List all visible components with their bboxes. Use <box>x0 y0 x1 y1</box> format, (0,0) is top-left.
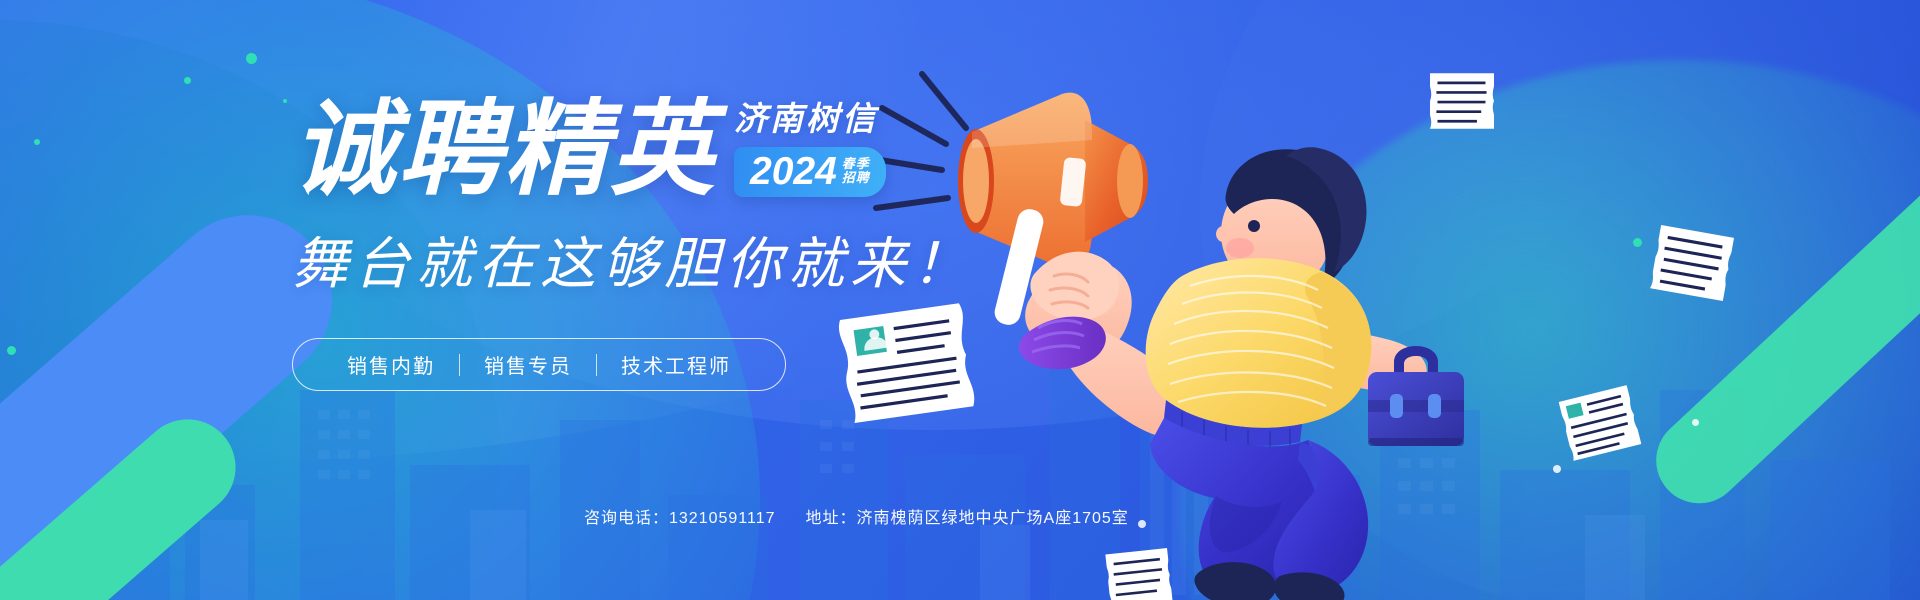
badge-subtext-line1: 春季 <box>842 157 870 171</box>
decorative-dot <box>246 53 257 64</box>
badge-year: 2024 <box>750 152 837 191</box>
banner-copy: 诚聘精英 济南树信 2024 春季 招聘 舞台就在这够胆你就来！ 销售内勤 销售… <box>292 92 1052 391</box>
subtitle: 舞台就在这够胆你就来！ <box>292 219 1052 300</box>
headline-row: 诚聘精英 济南树信 2024 春季 招聘 <box>292 92 1052 203</box>
recruitment-banner: 诚聘精英 济南树信 2024 春季 招聘 舞台就在这够胆你就来！ 销售内勤 销售… <box>0 0 1920 600</box>
decorative-dot <box>1633 238 1642 247</box>
year-badge: 2024 春季 招聘 <box>734 147 886 197</box>
eye <box>1248 220 1260 232</box>
decorative-dot-white <box>1692 419 1699 426</box>
decorative-dot <box>7 346 16 355</box>
badge-subtext: 春季 招聘 <box>842 157 870 186</box>
resume-paper <box>1650 224 1734 302</box>
decorative-dot <box>283 99 287 103</box>
badge-subtext-line2: 招聘 <box>842 171 870 185</box>
cheek-blush <box>1226 238 1254 258</box>
contact-info: 咨询电话：13210591117 地址：济南槐荫区绿地中央广场A座1705室 <box>584 504 1129 528</box>
page-title: 诚聘精英 <box>292 97 716 203</box>
contact-phone: 咨询电话：13210591117 <box>584 504 776 528</box>
role-item-1[interactable]: 销售专员 <box>460 350 596 379</box>
roles-pill: 销售内勤 销售专员 技术工程师 <box>292 338 786 391</box>
resume-paper <box>1430 72 1494 130</box>
decorative-dot <box>34 139 40 145</box>
role-item-2[interactable]: 技术工程师 <box>597 350 755 379</box>
brand-badge-stack: 济南树信 2024 春季 招聘 <box>734 92 886 203</box>
decorative-dot <box>184 77 191 84</box>
resume-paper <box>1105 547 1173 600</box>
brand-name: 济南树信 <box>734 92 886 140</box>
role-item-0[interactable]: 销售内勤 <box>323 350 459 379</box>
shirt <box>1146 258 1372 450</box>
contact-address: 地址：济南槐荫区绿地中央广场A座1705室 <box>806 504 1129 528</box>
